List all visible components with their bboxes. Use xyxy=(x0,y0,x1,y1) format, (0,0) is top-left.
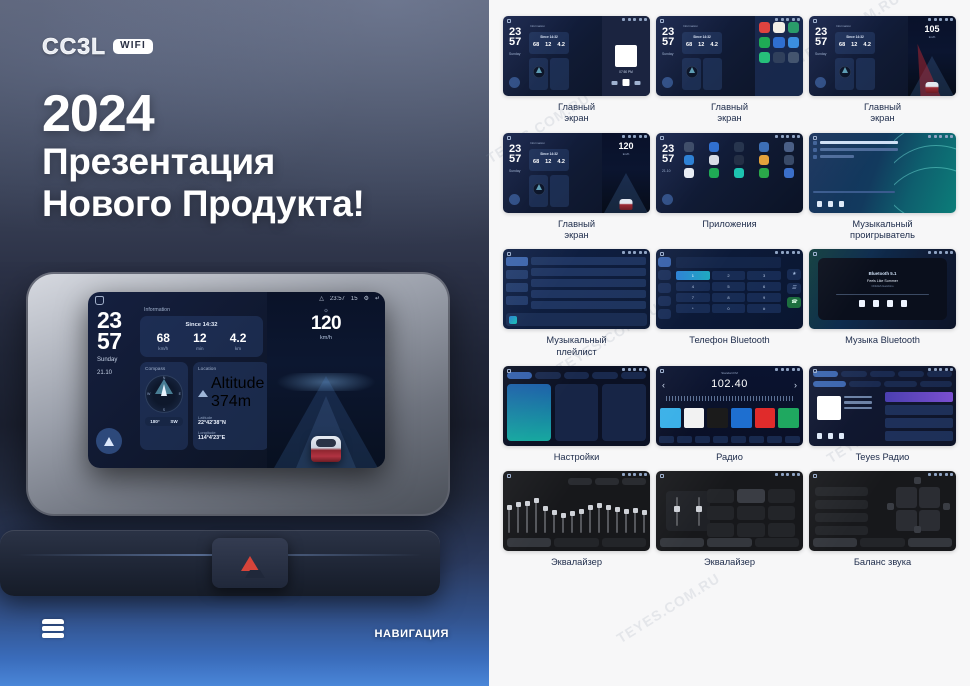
progress-bar[interactable] xyxy=(836,294,929,295)
head-unit-screen[interactable]: △ 23:57 15 ⚙ ↵ 23 57 Sunday 21.10 Inform… xyxy=(88,292,385,468)
hazard-button[interactable] xyxy=(212,538,288,588)
since-label: Since 14:32 xyxy=(530,152,568,156)
preset-3 xyxy=(707,408,728,428)
wave-decoration xyxy=(894,133,956,213)
bt-player-panel[interactable]: Bluetooth 5.1 Feels Like Summer Childish… xyxy=(818,258,947,320)
bluetooth-version-label: Bluetooth 5.1 xyxy=(869,271,897,276)
dial-keypad[interactable]: 1 2 3 4 5 6 7 8 9 * 0 # xyxy=(676,271,781,313)
eq-band-sliders[interactable] xyxy=(508,493,645,533)
altitude-row: Altitude 374m xyxy=(198,375,264,411)
hero-panel: CC3L WIFI 2024 Презентация Нового Продук… xyxy=(0,0,489,686)
thumbnail-caption: Главный экран xyxy=(864,102,901,125)
thumbnail-apps[interactable]: 23 57 21.10 xyxy=(656,133,803,213)
tab-balance xyxy=(755,538,799,547)
app-icon-filemanager[interactable] xyxy=(759,155,769,165)
app-icon[interactable] xyxy=(759,37,770,48)
stat-distance-value: 4.2 xyxy=(230,332,247,344)
thumbnail-settings[interactable] xyxy=(503,366,650,446)
playlist-rows[interactable] xyxy=(531,257,646,312)
key-6[interactable]: 6 xyxy=(747,282,781,291)
app-icon-control[interactable] xyxy=(709,155,719,165)
mini-day: Sunday xyxy=(662,52,674,56)
thumbnail-caption: Баланс звука xyxy=(854,557,911,568)
longitude-value: 114°4'23"E xyxy=(198,435,264,441)
home-icon xyxy=(660,474,664,478)
caption-line-1: Главный xyxy=(558,219,595,229)
gallery-item[interactable]: Музыкальный плейлист xyxy=(503,249,650,358)
status-bar xyxy=(928,368,953,371)
caption-line-1: Приложения xyxy=(702,219,756,229)
thumbnail-caption: Главный экран xyxy=(558,102,595,125)
station-presets[interactable] xyxy=(660,408,799,428)
mini-day: Sunday xyxy=(509,169,521,173)
thumbnail-caption: Главный экран xyxy=(711,102,748,125)
apps-widget[interactable] xyxy=(755,16,803,96)
tab-theme xyxy=(592,372,617,379)
key-2[interactable]: 2 xyxy=(712,271,746,280)
prev-icon xyxy=(817,433,822,439)
bt-track-artist: Childish Gambino xyxy=(871,284,893,288)
hero-footer-label: НАВИГАЦИЯ xyxy=(375,628,449,640)
location-card[interactable]: Location Altitude 374m Latitude 22°42'38… xyxy=(193,362,269,450)
phone-number-field[interactable] xyxy=(676,257,781,268)
caption-line-1: Главный xyxy=(558,102,595,112)
app-icon-music-player[interactable] xyxy=(734,168,744,178)
speed-value: 105 xyxy=(908,24,956,34)
app-icon[interactable] xyxy=(759,22,770,33)
car-avatar xyxy=(311,436,341,462)
caption-line-2: плейлист xyxy=(556,347,596,357)
app-icon[interactable] xyxy=(788,52,799,63)
app-icon[interactable] xyxy=(788,37,799,48)
caption-line-1: Настройки xyxy=(554,452,600,462)
compass-east-label: E xyxy=(179,392,181,396)
media-controls[interactable] xyxy=(859,300,907,307)
stat-speed-unit: km/h xyxy=(157,346,170,351)
navigation-button[interactable] xyxy=(96,428,122,454)
app-icon-calculator[interactable] xyxy=(759,142,769,152)
status-bar xyxy=(775,473,800,476)
balance-options[interactable] xyxy=(815,487,868,539)
station-list[interactable] xyxy=(885,392,953,444)
app-icon-gallery[interactable] xyxy=(784,155,794,165)
thumbnail-caption: Настройки xyxy=(554,452,600,463)
caption-line-1: Радио xyxy=(716,452,743,462)
gallery-item[interactable]: Эквалайзер xyxy=(503,471,650,568)
gear-icon[interactable]: ⚙ xyxy=(364,295,369,302)
home-icon xyxy=(813,19,817,23)
key-4[interactable]: 4 xyxy=(676,282,710,291)
tab-wifi xyxy=(507,372,532,379)
next-icon xyxy=(839,433,844,439)
frequency-scale[interactable] xyxy=(666,396,793,401)
track-row[interactable] xyxy=(813,148,898,152)
information-label: Information xyxy=(530,24,545,28)
settings-tabs[interactable] xyxy=(507,372,646,379)
app-icon-chrome[interactable] xyxy=(684,155,694,165)
mini-clock-mm: 57 xyxy=(662,155,674,165)
home-icon xyxy=(507,136,511,140)
key-star[interactable]: * xyxy=(676,304,710,313)
app-icon[interactable] xyxy=(759,52,770,63)
wifi-icon: △ xyxy=(319,295,324,302)
thumbnail-home-drive[interactable]: 23 57 Sunday Information Since 14:32 68 … xyxy=(503,133,650,213)
thumbnail-caption: Эквалайзер xyxy=(704,557,755,568)
location-card xyxy=(856,58,875,90)
home-icon xyxy=(507,474,511,478)
home-icon xyxy=(507,369,511,373)
location-label: Location xyxy=(198,367,264,372)
gallery-item[interactable]: Standart FM ‹ 102.40 › xyxy=(656,366,803,463)
back-button[interactable] xyxy=(662,194,673,205)
status-bar xyxy=(775,135,800,138)
home-icon xyxy=(813,474,817,478)
app-icon[interactable] xyxy=(773,22,784,33)
compass-card[interactable]: Compass N S E W 180° SW xyxy=(140,362,188,450)
thumbnail-caption: Эквалайзер xyxy=(551,557,602,568)
gallery-item[interactable]: Музыкальный проигрыватель xyxy=(809,133,956,242)
compass-location-row: Compass N S E W 180° SW xyxy=(140,362,263,450)
thumbnail-equalizer[interactable] xyxy=(503,471,650,551)
gain-sliders[interactable] xyxy=(666,491,710,531)
thumbnail-caption: Музыкальный плейлист xyxy=(546,335,606,358)
stat-distance: 4.2 km xyxy=(230,332,247,351)
product-logo: CC3L WIFI xyxy=(42,33,153,60)
compass-needle xyxy=(161,384,167,396)
mini-day: Sunday xyxy=(815,52,827,56)
preset-2 xyxy=(684,408,705,428)
thumbnail-equalizer-presets[interactable] xyxy=(656,471,803,551)
caption-line-1: Баланс звука xyxy=(854,557,911,567)
info-column: Information Since 14:32 68 km/h 12 min xyxy=(140,292,267,468)
thumbnail-music-player[interactable] xyxy=(809,133,956,213)
media-controls[interactable] xyxy=(817,201,844,207)
caption-line-1: Музыкальный xyxy=(852,219,912,229)
prev-icon xyxy=(859,300,865,307)
track-row[interactable] xyxy=(813,155,898,159)
key-0[interactable]: 0 xyxy=(712,304,746,313)
tab-fader xyxy=(707,538,751,547)
play-pause-icon xyxy=(873,300,879,307)
playlist-sidebar[interactable] xyxy=(506,257,528,309)
app-icon-camera[interactable] xyxy=(784,142,794,152)
information-card[interactable]: Since 14:32 68 km/h 12 min 4.2 km xyxy=(140,316,263,357)
next-station-icon[interactable]: › xyxy=(794,380,797,390)
stat-time-value: 12 xyxy=(545,42,551,48)
thumbnail-home-drive-red[interactable]: 23 57 Sunday Information Since 14:32 68 … xyxy=(809,16,956,96)
slide-root: CC3L WIFI 2024 Презентация Нового Продук… xyxy=(0,0,970,686)
thumbnail-teyes-radio[interactable] xyxy=(809,366,956,446)
tab-sound xyxy=(535,372,560,379)
app-icon-wifi[interactable] xyxy=(684,142,694,152)
radio-toolbar[interactable] xyxy=(659,436,800,443)
app-icon-bluetooth[interactable] xyxy=(709,142,719,152)
app-icon-dvr[interactable] xyxy=(734,155,744,165)
compass-dial xyxy=(839,66,851,78)
latitude-row: Latitude 22°42'38"N xyxy=(198,415,264,426)
thumbnail-home-apps[interactable]: 23 57 Sunday Information Since 14:32 68 … xyxy=(656,16,803,96)
gallery-item[interactable]: 23 57 Sunday Information Since 14:32 68 … xyxy=(656,16,803,125)
logo-wifi-badge: WIFI xyxy=(113,39,153,54)
contacts-icon[interactable]: ☰ xyxy=(787,283,801,294)
app-icon-bluetooth-music[interactable] xyxy=(734,142,744,152)
preset-jazz xyxy=(768,489,795,503)
app-icon-kinopoisk[interactable] xyxy=(684,168,694,178)
caption-line-2: экран xyxy=(870,113,894,123)
tab-eq xyxy=(813,538,857,547)
gallery-item[interactable]: 23 57 Sunday Information Since 14:32 68 … xyxy=(503,133,650,242)
favorite-icon[interactable]: ★ xyxy=(787,269,801,280)
app-icon[interactable] xyxy=(773,37,784,48)
caption-line-1: Музыка Bluetooth xyxy=(845,335,920,345)
app-icon-maps[interactable] xyxy=(709,168,719,178)
thumbnail-phone[interactable]: 1 2 3 4 5 6 7 8 9 * 0 # ★ xyxy=(656,249,803,329)
speed-value: 120 xyxy=(267,314,385,333)
album-art xyxy=(615,45,637,67)
clock-column: 23 57 Sunday 21.10 xyxy=(88,292,140,468)
eq-preset-buttons[interactable] xyxy=(507,478,646,485)
compass-direction: SW xyxy=(170,419,177,424)
key-hash[interactable]: # xyxy=(747,304,781,313)
compass-north-label: N xyxy=(163,376,166,380)
drive-widget[interactable]: 105 km/h xyxy=(908,16,956,96)
stat-time-unit: min xyxy=(193,346,206,351)
app-icon[interactable] xyxy=(788,22,799,33)
stop-icon xyxy=(887,300,893,307)
preset-6 xyxy=(778,408,799,428)
caption-line-2: экран xyxy=(717,113,741,123)
thumbnail-home-media[interactable]: 23 57 Sunday Information Since 14:32 68 … xyxy=(503,16,650,96)
app-icon[interactable] xyxy=(773,52,784,63)
compass-label: Compass xyxy=(145,367,183,372)
preset-custom xyxy=(768,523,795,537)
speed-unit: km/h xyxy=(267,335,385,341)
eq-tabs[interactable] xyxy=(507,538,646,547)
tab-fader xyxy=(554,538,598,547)
trip-stats: 68 12 4.2 xyxy=(836,42,874,48)
preset-5 xyxy=(755,408,776,428)
navigation-button[interactable] xyxy=(815,77,826,88)
preset-vocal xyxy=(737,506,764,520)
since-label: Since 14:32 xyxy=(836,35,874,39)
caption-line-2: проигрыватель xyxy=(850,230,915,240)
stat-time: 12 min xyxy=(193,332,206,351)
gallery-item[interactable]: 23 57 21.10 xyxy=(656,133,803,242)
preset-dance xyxy=(768,506,795,520)
tab-system xyxy=(621,372,646,379)
since-label: Since 14:32 xyxy=(145,322,258,328)
balance-left-button[interactable] xyxy=(887,503,894,510)
thumbnail-grid: 23 57 Sunday Information Since 14:32 68 … xyxy=(503,16,956,569)
location-card xyxy=(703,58,722,90)
home-icon xyxy=(813,369,817,373)
track-list[interactable] xyxy=(813,141,898,162)
home-icon[interactable] xyxy=(95,296,104,305)
phone-actions[interactable]: ★ ☰ ☎ xyxy=(787,269,801,311)
preset-grid[interactable] xyxy=(707,489,795,537)
drive-view[interactable]: ☼ 120 km/h xyxy=(267,292,385,468)
thumbnail-radio[interactable]: Standart FM ‹ 102.40 › xyxy=(656,366,803,446)
location-card xyxy=(550,175,569,207)
status-bar xyxy=(622,251,647,254)
speed-value: 120 xyxy=(602,141,650,151)
thumbnail-caption: Музыка Bluetooth xyxy=(845,335,920,346)
compass-dial: N S E W xyxy=(145,375,183,413)
drive-widget[interactable]: 120 km/h xyxy=(602,133,650,213)
mini-clock-mm: 57 xyxy=(662,38,674,48)
navigation-arrow-icon xyxy=(104,437,114,446)
gallery-item[interactable]: 1 2 3 4 5 6 7 8 9 * 0 # ★ xyxy=(656,249,803,358)
balance-down-button[interactable] xyxy=(914,526,921,533)
preset-classic xyxy=(707,506,734,520)
information-label: Information xyxy=(530,141,545,145)
media-time: 07:50 PM xyxy=(602,70,650,74)
compass-dial xyxy=(686,66,698,78)
track-meta xyxy=(844,396,872,413)
thumbnail-caption: Музыкальный проигрыватель xyxy=(850,219,915,242)
preset-4 xyxy=(731,408,752,428)
prev-icon xyxy=(817,201,822,207)
status-bar xyxy=(622,473,647,476)
key-9[interactable]: 9 xyxy=(747,293,781,302)
thumbnail-caption: Радио xyxy=(716,452,743,463)
navigation-button[interactable] xyxy=(509,194,520,205)
balance-pad[interactable] xyxy=(896,487,940,531)
navigation-button[interactable] xyxy=(509,77,520,88)
headline: 2024 Презентация Нового Продукта! xyxy=(42,88,365,225)
gallery-item[interactable]: 23 57 Sunday Information Since 14:32 68 … xyxy=(809,16,956,125)
gallery-item[interactable]: 23 57 Sunday Information Since 14:32 68 … xyxy=(503,16,650,125)
album-art xyxy=(817,396,841,420)
caption-line-1: Главный xyxy=(864,102,901,112)
thumbnail-caption: Телефон Bluetooth xyxy=(689,335,769,346)
thumbnail-caption: Главный экран xyxy=(558,219,595,242)
media-widget[interactable]: 07:50 PM xyxy=(602,16,650,96)
app-drawer[interactable] xyxy=(678,142,800,209)
status-bar xyxy=(928,251,953,254)
trip-stats: 68 12 4.2 xyxy=(683,42,721,48)
since-label: Since 14:32 xyxy=(683,35,721,39)
teyes-tabs[interactable] xyxy=(813,371,952,377)
eq-tabs[interactable] xyxy=(660,538,799,547)
preset-pop xyxy=(737,489,764,503)
key-5[interactable]: 5 xyxy=(712,282,746,291)
caption-line-1: Главный xyxy=(711,102,748,112)
watermark: TEYES.COM.RU xyxy=(614,570,723,646)
balance-up-button[interactable] xyxy=(914,477,921,484)
tab-eq xyxy=(660,538,704,547)
gallery-item[interactable]: Bluetooth 5.1 Feels Like Summer Childish… xyxy=(809,249,956,358)
home-icon xyxy=(660,369,664,373)
caption-line-1: Эквалайзер xyxy=(704,557,755,567)
progress-bar[interactable] xyxy=(813,191,895,193)
clock-day: Sunday xyxy=(97,357,140,365)
headline-line-2: Нового Продукта! xyxy=(42,183,365,225)
gallery-item[interactable]: Настройки xyxy=(503,366,650,463)
home-icon xyxy=(660,136,664,140)
mountain-icon xyxy=(198,390,208,397)
next-icon xyxy=(901,300,907,307)
preset-bass xyxy=(707,523,734,537)
track-row-active[interactable] xyxy=(813,141,898,145)
gallery-item[interactable]: Эквалайзер xyxy=(656,471,803,568)
card-about xyxy=(602,384,646,441)
status-bar: △ 23:57 15 ⚙ ↵ xyxy=(319,295,380,302)
tab-balance xyxy=(602,538,646,547)
since-label: Since 14:32 xyxy=(530,35,568,39)
caption-line-1: Телефон Bluetooth xyxy=(689,335,769,345)
eq-tabs[interactable] xyxy=(813,538,952,547)
now-playing-bar[interactable] xyxy=(506,313,647,326)
key-1[interactable]: 1 xyxy=(676,271,710,280)
settings-cards[interactable] xyxy=(507,384,646,441)
app-icon-radio[interactable] xyxy=(784,168,794,178)
tab-fader xyxy=(860,538,904,547)
hazard-triangle-icon xyxy=(241,556,259,571)
latitude-value: 22°42'38"N xyxy=(198,420,264,426)
compass-dial xyxy=(533,183,545,195)
status-time: 23:57 xyxy=(330,296,345,302)
card-wifi xyxy=(507,384,551,441)
call-icon[interactable]: ☎ xyxy=(787,297,801,308)
key-3[interactable]: 3 xyxy=(747,271,781,280)
key-7[interactable]: 7 xyxy=(676,293,710,302)
status-bar xyxy=(928,473,953,476)
tab-balance xyxy=(908,538,952,547)
status-bar xyxy=(775,251,800,254)
caption-line-2: экран xyxy=(564,113,588,123)
thumbnail-sound-balance[interactable] xyxy=(809,471,956,551)
media-controls[interactable] xyxy=(612,79,641,86)
layers-icon[interactable] xyxy=(42,619,64,640)
clock-date: 21.10 xyxy=(97,370,140,378)
thumbnail-caption: Teyes Радио xyxy=(856,452,910,463)
home-icon xyxy=(813,136,817,140)
home-icon xyxy=(813,252,817,256)
compass-west-label: W xyxy=(147,392,150,396)
app-icon-play-store[interactable] xyxy=(759,168,769,178)
compass-dial xyxy=(533,66,545,78)
caption-line-2: экран xyxy=(564,230,588,240)
longitude-row: Longitude 114°4'23"E xyxy=(198,430,264,441)
status-bar xyxy=(622,18,647,21)
mini-day: 21.10 xyxy=(662,169,671,173)
home-icon xyxy=(660,252,664,256)
thumbnail-caption: Приложения xyxy=(702,219,756,230)
trip-stats: 68 12 4.2 xyxy=(530,42,568,48)
stat-speed: 68 km/h xyxy=(157,332,170,351)
back-icon[interactable]: ↵ xyxy=(375,295,380,302)
preset-1 xyxy=(660,408,681,428)
logo-text: CC3L xyxy=(42,33,106,60)
gallery-item[interactable]: Teyes Радио xyxy=(809,366,956,463)
balance-right-button[interactable] xyxy=(943,503,950,510)
stop-icon xyxy=(828,433,833,439)
clock-minutes: 57 xyxy=(97,331,140,352)
trip-stats: 68 12 4.2 xyxy=(530,159,568,165)
teyes-filters[interactable] xyxy=(813,381,952,387)
thumbnail-playlist[interactable] xyxy=(503,249,650,329)
phone-sidebar[interactable] xyxy=(658,257,671,322)
key-8[interactable]: 8 xyxy=(712,293,746,302)
thumbnail-bt-music[interactable]: Bluetooth 5.1 Feels Like Summer Childish… xyxy=(809,249,956,329)
preset-flat xyxy=(737,523,764,537)
car-avatar xyxy=(620,199,633,210)
navigation-button[interactable] xyxy=(662,77,673,88)
gallery-item[interactable]: Баланс звука xyxy=(809,471,956,568)
media-controls[interactable] xyxy=(817,433,844,439)
home-icon xyxy=(507,252,511,256)
